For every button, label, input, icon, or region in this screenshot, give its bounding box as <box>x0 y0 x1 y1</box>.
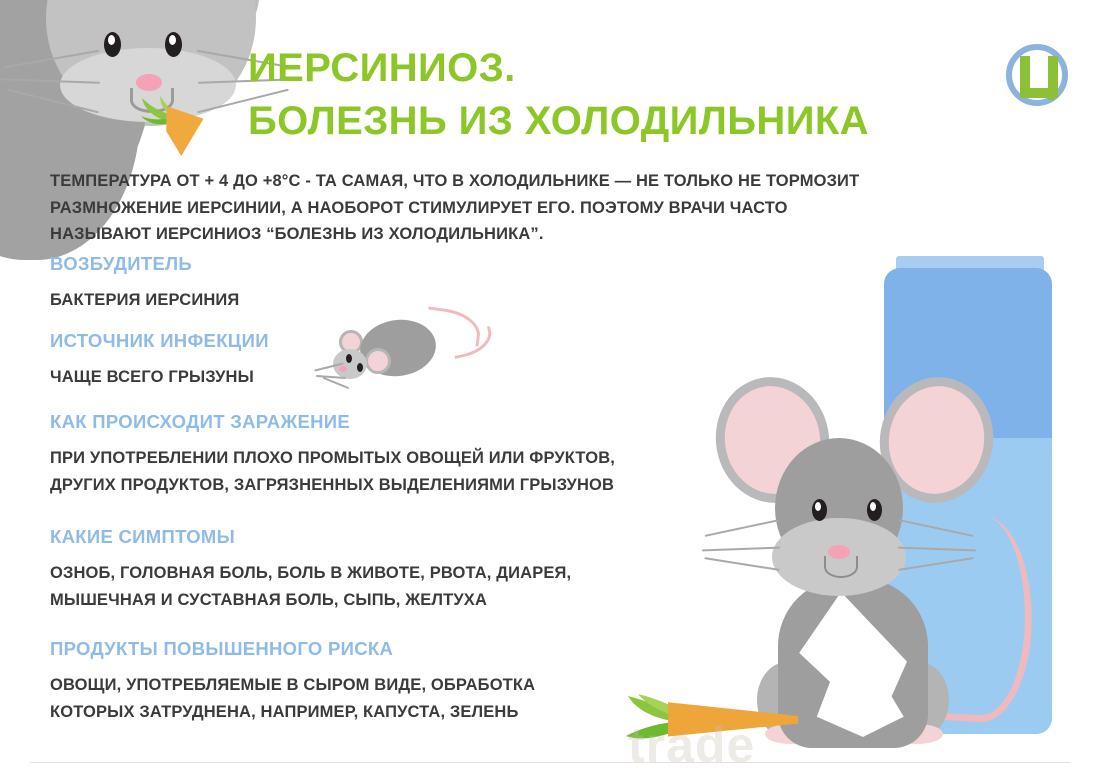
big-mouse-mouth <box>824 556 858 578</box>
section-risk-products-line-1: ОВОЩИ, УПОТРЕБЛЯЕМЫЕ В СЫРОМ ВИДЕ, ОБРАБ… <box>50 672 535 699</box>
big-mouse-whisker-left-3 <box>704 557 779 571</box>
section-risk-products-heading: ПРОДУКТЫ ПОВЫШЕННОГО РИСКА <box>50 638 535 660</box>
page-title: ИЕРСИНИОЗ. БОЛЕЗНЬ ИЗ ХОЛОДИЛЬНИКА <box>248 42 948 148</box>
section-pathogen-line-1: БАКТЕРИЯ ИЕРСИНИЯ <box>50 287 239 314</box>
section-transmission-body: ПРИ УПОТРЕБЛЕНИИ ПЛОХО ПРОМЫТЫХ ОВОЩЕЙ И… <box>50 445 615 498</box>
section-transmission-heading: КАК ПРОИСХОДИТ ЗАРАЖЕНИЕ <box>50 411 615 433</box>
bottom-divider <box>30 762 1070 763</box>
section-pathogen: ВОЗБУДИТЕЛЬ БАКТЕРИЯ ИЕРСИНИЯ <box>50 253 239 314</box>
section-symptoms-line-2: МЫШЕЧНАЯ И СУСТАВНАЯ БОЛЬ, СЫПЬ, ЖЕЛТУХА <box>50 587 571 614</box>
rabbit-right-eye <box>165 32 182 57</box>
page-title-line-2: БОЛЕЗНЬ ИЗ ХОЛОДИЛЬНИКА <box>248 95 948 148</box>
section-symptoms: КАКИЕ СИМПТОМЫ ОЗНОБ, ГОЛОВНАЯ БОЛЬ, БОЛ… <box>50 526 571 613</box>
section-symptoms-line-1: ОЗНОБ, ГОЛОВНАЯ БОЛЬ, БОЛЬ В ЖИВОТЕ, РВО… <box>50 560 571 587</box>
section-transmission-line-1: ПРИ УПОТРЕБЛЕНИИ ПЛОХО ПРОМЫТЫХ ОВОЩЕЙ И… <box>50 445 615 472</box>
rabbit-left-eye <box>104 32 121 57</box>
section-risk-products: ПРОДУКТЫ ПОВЫШЕННОГО РИСКА ОВОЩИ, УПОТРЕ… <box>50 638 535 725</box>
section-pathogen-heading: ВОЗБУДИТЕЛЬ <box>50 253 239 275</box>
section-source: ИСТОЧНИК ИНФЕКЦИИ ЧАЩЕ ВСЕГО ГРЫЗУНЫ <box>50 330 269 391</box>
big-mouse-whisker-left-2 <box>702 547 780 552</box>
section-symptoms-heading: КАКИЕ СИМПТОМЫ <box>50 526 571 548</box>
section-pathogen-body: БАКТЕРИЯ ИЕРСИНИЯ <box>50 287 239 314</box>
small-mouse-nose <box>339 366 347 372</box>
section-symptoms-body: ОЗНОБ, ГОЛОВНАЯ БОЛЬ, БОЛЬ В ЖИВОТЕ, РВО… <box>50 560 571 613</box>
section-transmission-line-2: ДРУГИХ ПРОДУКТОВ, ЗАГРЯЗНЕННЫХ ВЫДЕЛЕНИЯ… <box>50 472 615 499</box>
intro-line-3: НАЗЫВАЮТ ИЕРСИНИОЗ “БОЛЕЗНЬ ИЗ ХОЛОДИЛЬН… <box>50 221 990 248</box>
section-transmission: КАК ПРОИСХОДИТ ЗАРАЖЕНИЕ ПРИ УПОТРЕБЛЕНИ… <box>50 411 615 498</box>
intro-paragraph: ТЕМПЕРАТУРА ОТ + 4 ДО +8°C - ТА САМАЯ, Ч… <box>50 168 990 248</box>
infographic-poster: trade ИЕРСИНИОЗ. БОЛЕЗНЬ ИЗ ХОЛОДИЛЬНИКА… <box>0 0 1100 777</box>
section-risk-products-body: ОВОЩИ, УПОТРЕБЛЯЕМЫЕ В СЫРОМ ВИДЕ, ОБРАБ… <box>50 672 535 725</box>
big-mouse-right-eye <box>867 499 882 521</box>
big-mouse-whisker-left-1 <box>705 519 780 537</box>
small-mouse-far-eye <box>346 354 352 363</box>
section-source-line-1: ЧАЩЕ ВСЕГО ГРЫЗУНЫ <box>50 364 269 391</box>
section-risk-products-line-2: КОТОРЫХ ЗАТРУДНЕНА, НАПРИМЕР, КАПУСТА, З… <box>50 699 535 726</box>
small-mouse-near-eye <box>357 363 363 372</box>
page-title-line-1: ИЕРСИНИОЗ. <box>248 42 948 95</box>
big-mouse-left-eye <box>812 499 827 521</box>
section-source-body: ЧАЩЕ ВСЕГО ГРЫЗУНЫ <box>50 364 269 391</box>
intro-line-1: ТЕМПЕРАТУРА ОТ + 4 ДО +8°C - ТА САМАЯ, Ч… <box>50 168 990 195</box>
organization-logo-icon[interactable] <box>1004 42 1070 108</box>
section-source-heading: ИСТОЧНИК ИНФЕКЦИИ <box>50 330 269 352</box>
small-mouse-near-ear <box>365 348 391 374</box>
intro-line-2: РАЗМНОЖЕНИЕ ИЕРСИНИИ, А НАОБОРОТ СТИМУЛИ… <box>50 195 990 222</box>
